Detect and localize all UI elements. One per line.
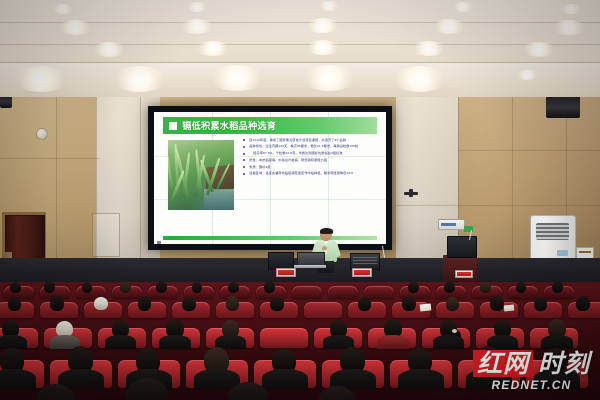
- slide-title-bar: 镉低积累水稻品种选育: [163, 117, 376, 134]
- rice-paddy-photo: [168, 140, 234, 210]
- ac-vent-grille: [536, 223, 569, 240]
- wall-disc-fixture: [36, 128, 48, 140]
- slide-body: 自2016年起，承担了国家重点研发计划项目课题，共选育了8个品种 品种特性：全生…: [163, 136, 376, 234]
- door-handle-icon[interactable]: [409, 189, 413, 197]
- list-item: 米质：国标3级: [242, 165, 374, 169]
- watermark-brand-white: 时刻: [533, 351, 590, 376]
- wall-seam: [56, 90, 57, 280]
- presenter-laptop-base[interactable]: [294, 265, 326, 268]
- list-item: 品种特性：全生育期128天，株高95厘米，穗长21.5厘米，每穗总粒数165粒: [242, 144, 374, 148]
- name-placard: [276, 268, 296, 277]
- watermark: 红网 时刻 REDNET.CN: [473, 350, 590, 392]
- wall-frame-outline: [92, 213, 120, 257]
- wall-seam: [140, 90, 141, 280]
- slide-title-text: 镉低积累水稻品种选育: [182, 119, 276, 132]
- square-bullet-icon: [169, 122, 177, 130]
- list-item: 抗性：中抗稻瘟病，中感白叶枯病，耐低镉积累能力强: [242, 158, 374, 162]
- ac-display: [557, 250, 568, 256]
- slide-bullet-list: 自2016年起，承担了国家重点研发计划项目课题，共选育了8个品种 品种特性：全生…: [242, 138, 374, 224]
- wall-seam: [396, 205, 600, 206]
- list-item: 适播区域：适宜在湖南省稻瘟病轻发区作中稻种植，糙米镉含量降低45%: [242, 171, 374, 175]
- slide-surface: 镉低积累水稻品种选育: [154, 112, 386, 244]
- wall-seam: [458, 150, 600, 151]
- lectern-monitor: [447, 236, 477, 258]
- wall-seam: [512, 90, 513, 280]
- ceiling: [0, 0, 600, 96]
- list-item: 自2016年起，承担了国家重点研发计划项目课题，共选育了8个品种: [242, 138, 374, 142]
- list-item: 结实率87.5%，千粒重26.8克，米质达到国标优质稻谷3级标准: [242, 151, 374, 155]
- slide-footer-bar: [163, 236, 376, 240]
- wall-sensor-icon: [438, 219, 465, 230]
- name-placard: [455, 270, 473, 278]
- name-placard: [352, 268, 372, 277]
- screenshot-root: 镉低积累水稻品种选育: [0, 0, 600, 400]
- watermark-url: REDNET.CN: [473, 378, 590, 392]
- wall-seam: [0, 158, 100, 159]
- ceiling-soffit: [0, 62, 600, 97]
- screen-indicator: [157, 241, 161, 244]
- watermark-brand-red: 红网: [473, 350, 533, 377]
- projection-screen: 镉低积累水稻品种选育: [148, 106, 392, 250]
